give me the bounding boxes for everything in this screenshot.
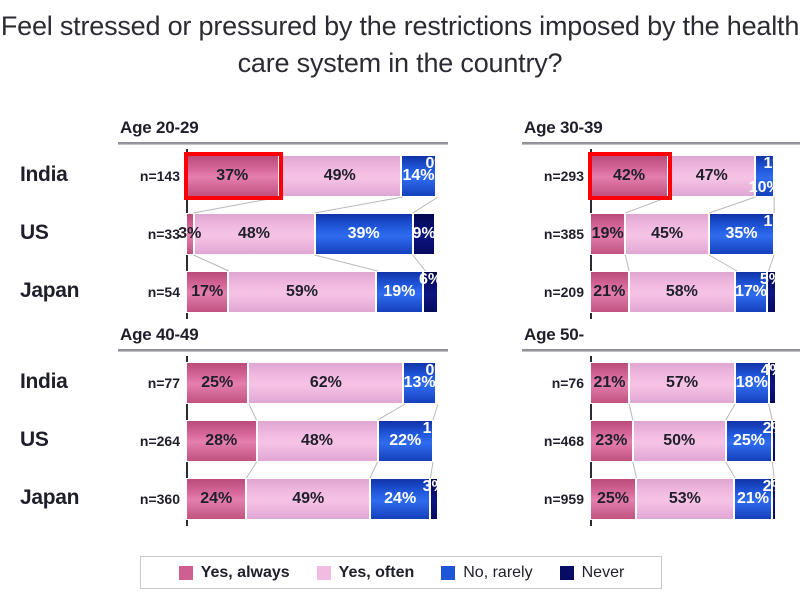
segment-value: 19%	[383, 283, 415, 301]
segment-value: 21%	[593, 283, 625, 301]
segment-connector	[772, 462, 774, 478]
panel-rule	[522, 142, 800, 145]
segment-connector	[769, 404, 773, 420]
sample-size-label: n=293	[494, 168, 584, 184]
segment-value: 0%	[425, 362, 448, 380]
segment-connector	[769, 255, 775, 271]
bar-segment: 2%	[772, 420, 776, 462]
segment-connector	[370, 462, 378, 478]
segment-value: 48%	[238, 225, 270, 243]
sample-size-label: n=959	[494, 491, 584, 507]
segment-value: 10%	[749, 179, 781, 197]
segment-value: 23%	[595, 432, 627, 450]
stacked-bar: 25%53%21%2%	[590, 478, 776, 520]
stacked-bar: 21%57%18%4%	[590, 362, 776, 404]
sample-size-label: n=209	[494, 284, 584, 300]
segment-value: 3%	[178, 225, 201, 243]
chart-legend: Yes, alwaysYes, oftenNo, rarelyNever	[140, 556, 662, 589]
sample-size-label: n=264	[90, 433, 180, 449]
stacked-bar: 42%47%10%1%	[590, 155, 776, 197]
bar-segment: 21%	[590, 362, 629, 404]
stacked-bar: 21%58%17%5%	[590, 271, 776, 313]
bar-segment: 50%	[633, 420, 726, 462]
segment-value: 1%	[763, 155, 786, 173]
segment-value: 22%	[389, 432, 421, 450]
panel-rule	[522, 349, 800, 352]
segment-value: 24%	[200, 490, 232, 508]
legend-item: Yes, often	[316, 564, 415, 582]
segment-value: 49%	[324, 167, 356, 185]
segment-value: 53%	[669, 490, 701, 508]
sample-size-label: n=76	[494, 375, 584, 391]
bar-segment: 59%	[228, 271, 375, 313]
legend-item: Yes, always	[178, 564, 290, 582]
bar-segment: 58%	[629, 271, 736, 313]
segment-value: 37%	[216, 167, 248, 185]
segment-connector	[413, 197, 438, 213]
segment-value: 57%	[666, 374, 698, 392]
sample-size-label: n=77	[90, 375, 180, 391]
segment-value: 4%	[761, 362, 784, 380]
stacked-bar: 23%50%25%2%	[590, 420, 776, 462]
segment-value: 1%	[763, 213, 786, 231]
bar-segment: 45%	[625, 213, 709, 255]
segment-connector	[625, 197, 668, 213]
bar-segment: 49%	[279, 155, 402, 197]
segment-value: 21%	[594, 374, 626, 392]
bar-segment: 23%	[590, 420, 633, 462]
bar-segment: 19%	[590, 213, 625, 255]
segment-value: 1%	[423, 420, 446, 438]
bar-segment: 47%	[668, 155, 755, 197]
segment-value: 39%	[348, 225, 380, 243]
legend-item: No, rarely	[440, 564, 532, 582]
bar-segment: 19%	[376, 271, 423, 313]
bar-segment: 48%	[194, 213, 315, 255]
legend-label: Yes, often	[339, 564, 415, 582]
panel-rule	[118, 142, 448, 145]
segment-value: 5%	[760, 271, 783, 289]
segment-value: 42%	[613, 167, 645, 185]
bar-segment: 1%	[433, 420, 436, 462]
bar-segment: 53%	[636, 478, 734, 520]
segment-connector	[430, 462, 433, 478]
panel-title: Age 50-	[524, 325, 584, 345]
segment-connector	[249, 404, 257, 420]
segment-value: 25%	[201, 374, 233, 392]
segment-connector	[378, 404, 406, 420]
bar-segment: 25%	[590, 478, 636, 520]
bar-segment: 3%	[430, 478, 438, 520]
bar-segment: 57%	[629, 362, 735, 404]
segment-connector	[246, 462, 256, 478]
bar-segment: 21%	[590, 271, 629, 313]
panel-rule	[118, 349, 448, 352]
segment-value: 35%	[725, 225, 757, 243]
legend-label: Never	[582, 564, 625, 582]
row-label-us: US	[20, 221, 49, 245]
panel-title: Age 30-39	[524, 118, 603, 138]
bar-segment: 39%	[315, 213, 413, 255]
panel-title: Age 20-29	[120, 118, 199, 138]
row-label-us: US	[20, 428, 49, 452]
bar-segment: 4%	[769, 362, 776, 404]
stacked-bar: 17%59%19%6%	[186, 271, 438, 313]
segment-value: 48%	[301, 432, 333, 450]
bar-segment: 24%	[186, 478, 246, 520]
segment-value: 58%	[666, 283, 698, 301]
segment-value: 47%	[696, 167, 728, 185]
legend-swatch-2	[440, 565, 456, 581]
bar-segment: 25%	[186, 362, 248, 404]
segment-connector	[194, 197, 280, 213]
bar-segment: 62%	[248, 362, 403, 404]
stacked-bar: 37%49%14%0%	[186, 155, 438, 197]
segment-connector	[629, 404, 633, 420]
stacked-bar: 24%49%24%3%	[186, 478, 438, 520]
legend-swatch-1	[316, 565, 332, 581]
stacked-bar: 19%45%35%1%	[590, 213, 776, 255]
segment-connector	[433, 404, 438, 420]
segment-value: 59%	[286, 283, 318, 301]
row-label-japan: Japan	[20, 486, 79, 510]
panel-title: Age 40-49	[120, 325, 199, 345]
segment-value: 2%	[763, 420, 786, 438]
segment-value: 25%	[597, 490, 629, 508]
row-label-japan: Japan	[20, 279, 79, 303]
segment-connector	[413, 255, 426, 271]
bar-segment: 5%	[767, 271, 776, 313]
legend-label: No, rarely	[463, 564, 532, 582]
bar-segment: 1%	[774, 213, 776, 255]
segment-value: 19%	[592, 225, 624, 243]
segment-connector	[315, 255, 378, 271]
sample-size-label: n=143	[90, 168, 180, 184]
segment-connector	[194, 255, 229, 271]
legend-label: Yes, always	[201, 564, 290, 582]
segment-value: 0%	[425, 155, 448, 173]
bar-segment: 49%	[246, 478, 369, 520]
sample-size-label: n=468	[494, 433, 584, 449]
segment-value: 45%	[651, 225, 683, 243]
segment-connector	[709, 197, 756, 213]
segment-value: 24%	[384, 490, 416, 508]
stacked-bar: 3%48%39%9%	[186, 213, 438, 255]
segment-value: 6%	[419, 271, 442, 289]
legend-swatch-0	[178, 565, 194, 581]
bar-segment: 48%	[257, 420, 378, 462]
sample-size-label: n=360	[90, 491, 180, 507]
bar-segment: 37%	[186, 155, 279, 197]
sample-size-label: n=33	[90, 226, 180, 242]
bar-segment: 0%	[436, 362, 438, 404]
legend-item: Never	[559, 564, 625, 582]
sample-size-label: n=385	[494, 226, 584, 242]
bar-segment: 6%	[423, 271, 438, 313]
segment-value: 2%	[763, 478, 786, 496]
bar-segment: 2%	[772, 478, 776, 520]
bar-segment: 28%	[186, 420, 257, 462]
segment-value: 28%	[205, 432, 237, 450]
segment-value: 25%	[733, 432, 765, 450]
stacked-bar: 28%48%22%1%	[186, 420, 438, 462]
stacked-bar: 25%62%13%0%	[186, 362, 438, 404]
page-title: Feel stressed or pressured by the restri…	[0, 8, 800, 82]
segment-connector	[315, 197, 403, 213]
segment-connector	[726, 462, 735, 478]
sample-size-label: n=54	[90, 284, 180, 300]
bar-segment: 42%	[590, 155, 668, 197]
bar-segment: 17%	[186, 271, 228, 313]
segment-value: 9%	[413, 225, 436, 243]
bar-segment: 0%	[436, 155, 438, 197]
segment-value: 3%	[423, 478, 446, 496]
segment-connector	[726, 404, 735, 420]
segment-value: 50%	[663, 432, 695, 450]
row-label-india: India	[20, 163, 68, 187]
segment-connector	[709, 255, 737, 271]
bar-segment: 3%	[186, 213, 194, 255]
legend-swatch-3	[559, 565, 575, 581]
segment-connector	[625, 255, 629, 271]
segment-value: 49%	[292, 490, 324, 508]
segment-value: 17%	[191, 283, 223, 301]
bar-segment: 24%	[370, 478, 430, 520]
segment-value: 62%	[310, 374, 342, 392]
segment-connector	[633, 462, 637, 478]
row-label-india: India	[20, 370, 68, 394]
bar-segment: 9%	[413, 213, 436, 255]
